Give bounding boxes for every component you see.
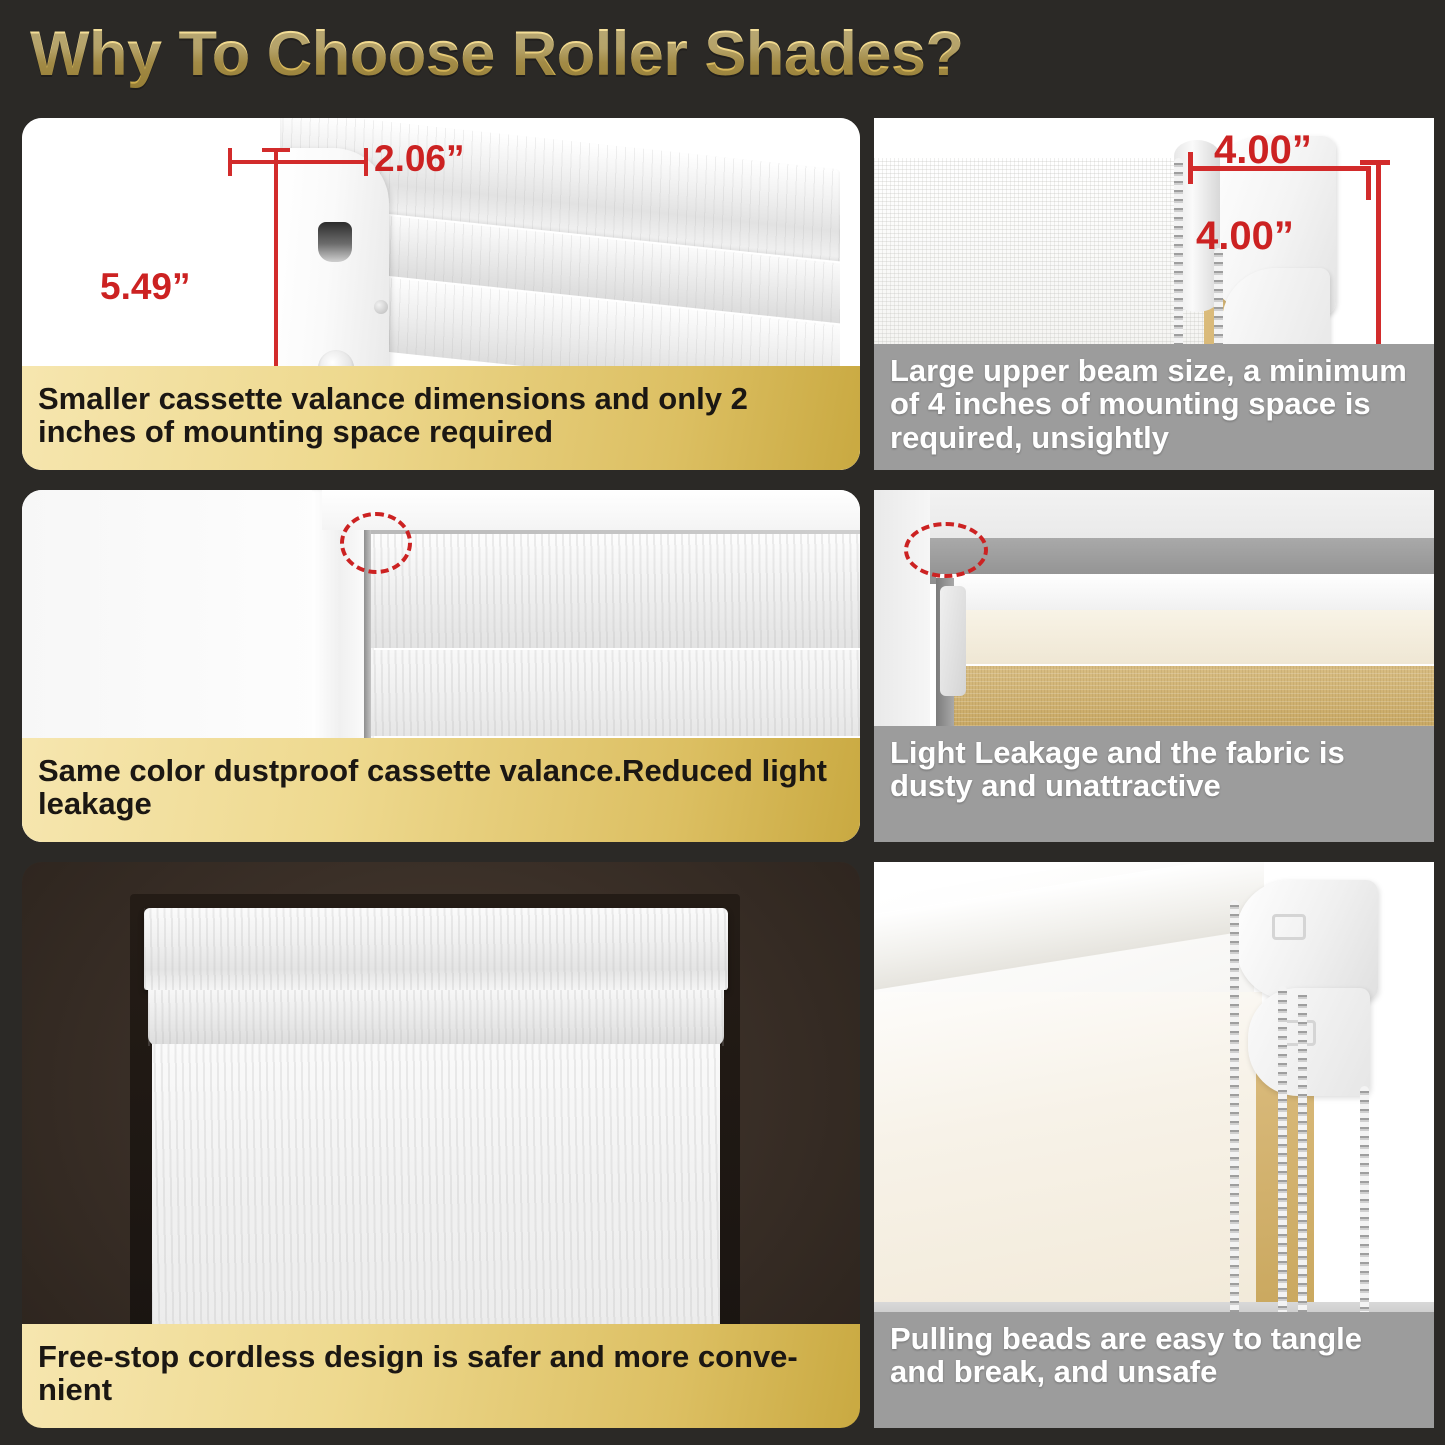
beam-height-tick-top [1360,160,1390,165]
header-bar: Why To Choose Roller Shades? [0,0,1445,108]
comparison-grid: 2.06” 5.49” Smaller cassette valance dim… [0,108,1445,1440]
shade-band-upper [368,534,860,648]
beam-width-tick-left [1188,152,1193,184]
caption-negative-light-leakage: Light Leakage and the fabric is dusty an… [874,726,1434,842]
height-dimension-tick-top [262,148,290,152]
panel-positive-mounting-size: 2.06” 5.49” Smaller cassette valance dim… [22,118,860,470]
panel-positive-operation-safety: Free-stop cordless design is safer and m… [22,862,860,1428]
shade-fabric [152,1044,720,1364]
bracket-emboss-upper [1272,914,1306,940]
width-dimension-line [228,160,368,164]
mounting-bracket [940,586,966,696]
panel-negative-light-leakage: Large gap Light Leakage and the fabric i… [874,490,1434,842]
width-dimension-tick-right [364,148,368,176]
panel-negative-mounting-size: 4.00” 4.00” Large upper beam size, a min… [874,118,1434,470]
cassette-valance [144,908,728,990]
valance-seam [368,530,860,534]
caption-negative-mounting-size: Large upper beam size, a minimum of 4 in… [874,344,1434,470]
bead-chain-2 [1278,986,1287,1330]
beam-height-dimension-label: 4.00” [1196,214,1294,259]
valance-screw [374,300,388,314]
comparison-row-mounting-size: 2.06” 5.49” Smaller cassette valance dim… [0,108,1445,480]
valance-slot [318,222,352,262]
panel-negative-operation-safety: Pulling beads are easy to tangle and bre… [874,862,1434,1428]
bead-chain-1 [1230,900,1239,1330]
panel-positive-light-leakage: smaller gap Same color dustproof cassett… [22,490,860,842]
width-dimension-label: 2.06” [374,138,465,180]
page-title: Why To Choose Roller Shades? [30,18,963,90]
roller-tube [148,990,724,1046]
caption-negative-operation-safety: Pulling beads are easy to tangle and bre… [874,1312,1434,1428]
bead-chain-3 [1298,990,1307,1330]
highlight-circle-seam [340,512,412,574]
floor-shadow [874,1302,1434,1312]
bead-chain-4 [1360,1086,1369,1330]
shade-band-lower [368,650,860,736]
comparison-row-light-leakage: smaller gap Same color dustproof cassett… [0,480,1445,852]
comparison-row-operation-safety: Free-stop cordless design is safer and m… [0,852,1445,1440]
height-dimension-label: 5.49” [100,266,191,308]
main-fabric-panel [874,992,1262,1308]
caption-positive-operation-safety: Free-stop cordless design is safer and m… [22,1324,860,1428]
highlight-circle-gap [904,522,988,578]
beam-width-tick-right [1366,166,1371,200]
beam-width-dimension-label: 4.00” [1214,128,1312,173]
cream-fabric-band [942,610,1434,664]
caption-positive-light-leakage: Same color dustproof cassette valance.Re… [22,738,860,842]
upper-bracket [1236,880,1378,1000]
tan-fabric-panel [954,666,1434,726]
width-dimension-tick-left [228,148,232,176]
caption-positive-mounting-size: Smaller cassette valance dimensions and … [22,366,860,470]
